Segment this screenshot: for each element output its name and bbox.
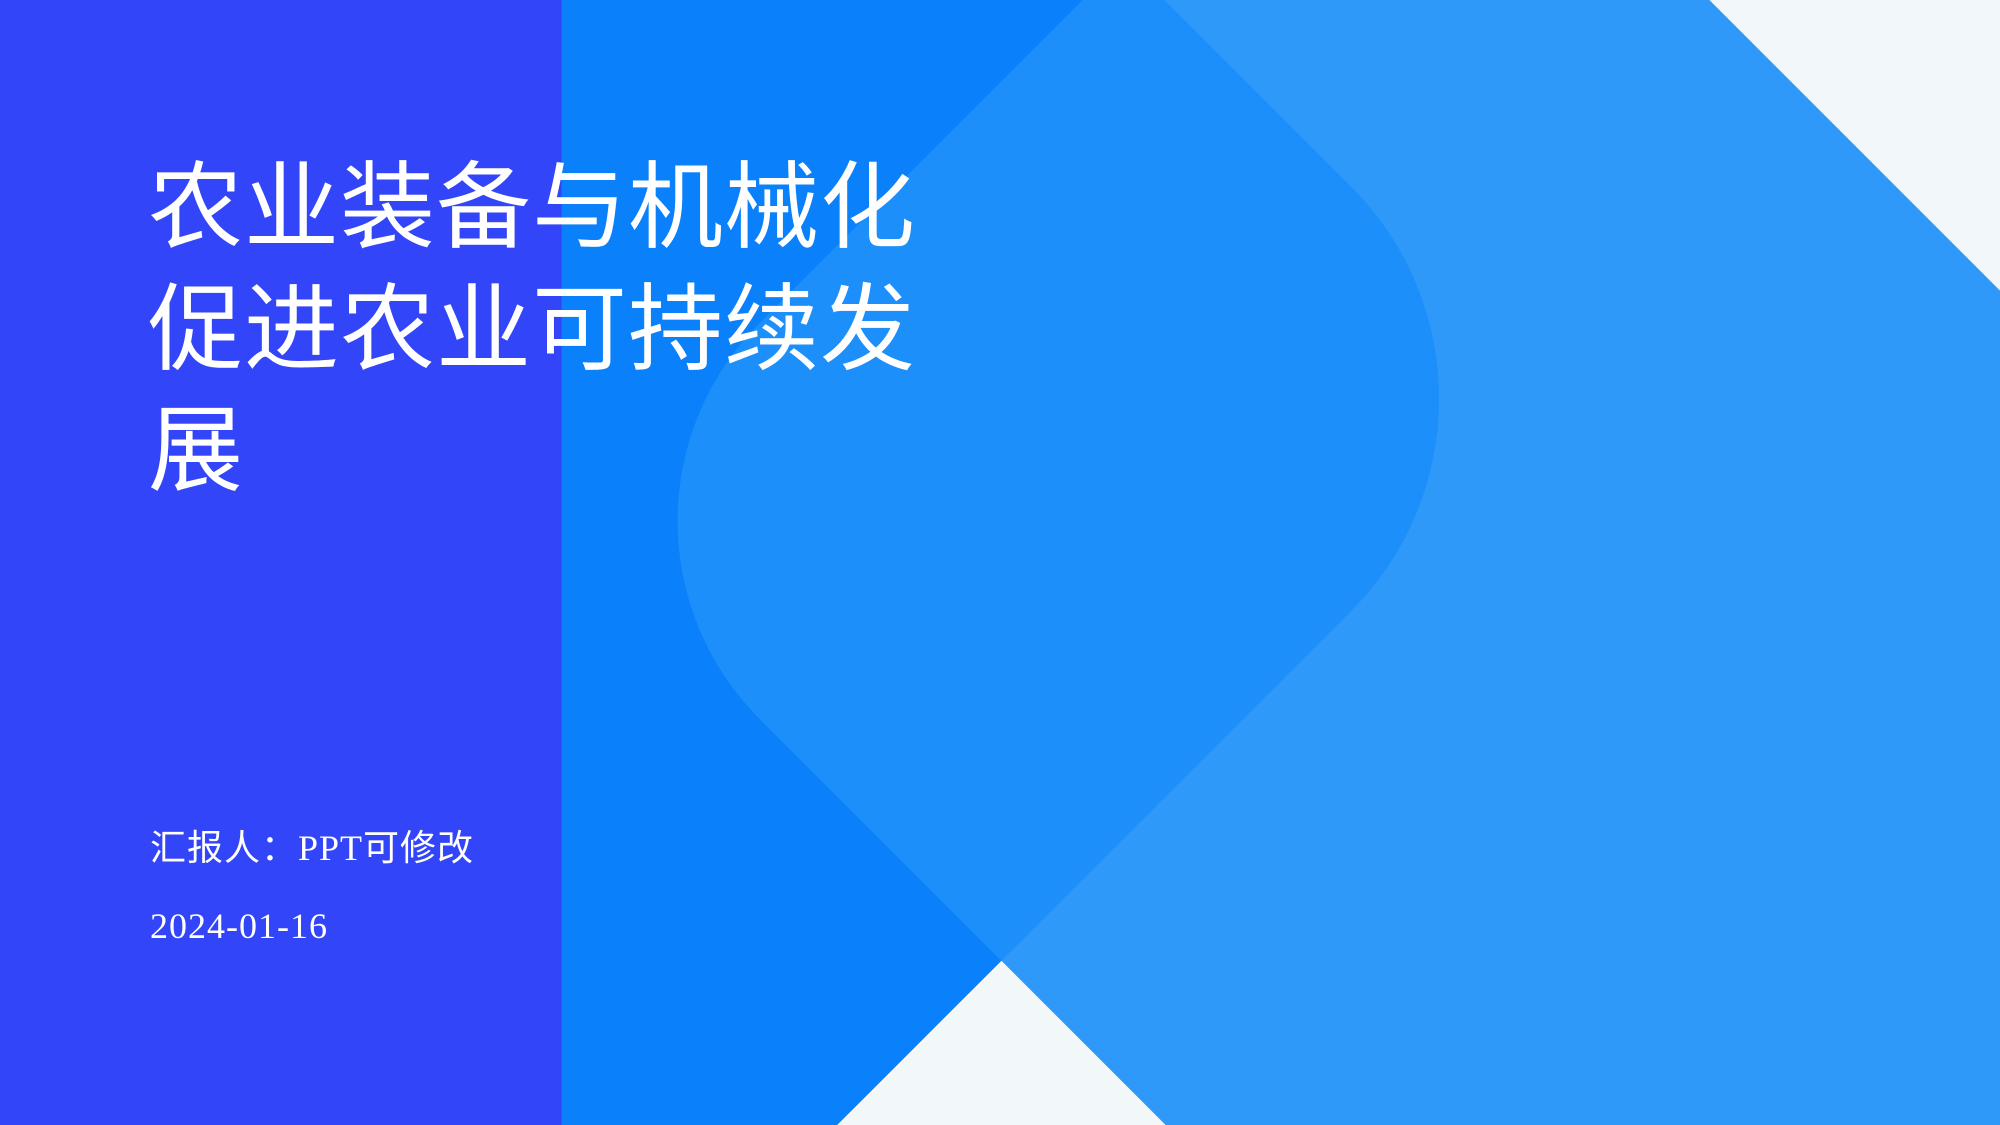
title-slide: 农业装备与机械化促进农业可持续发展 汇报人：PPT可修改 2024-01-16 <box>0 0 2000 1125</box>
slide-text-block: 农业装备与机械化促进农业可持续发展 汇报人：PPT可修改 2024-01-16 <box>148 0 1048 1125</box>
slide-meta: 汇报人：PPT可修改 2024-01-16 <box>150 830 474 944</box>
presenter-label: 汇报人：PPT可修改 <box>150 830 474 866</box>
date-label: 2024-01-16 <box>150 908 474 944</box>
page-title: 农业装备与机械化促进农业可持续发展 <box>148 148 1008 513</box>
